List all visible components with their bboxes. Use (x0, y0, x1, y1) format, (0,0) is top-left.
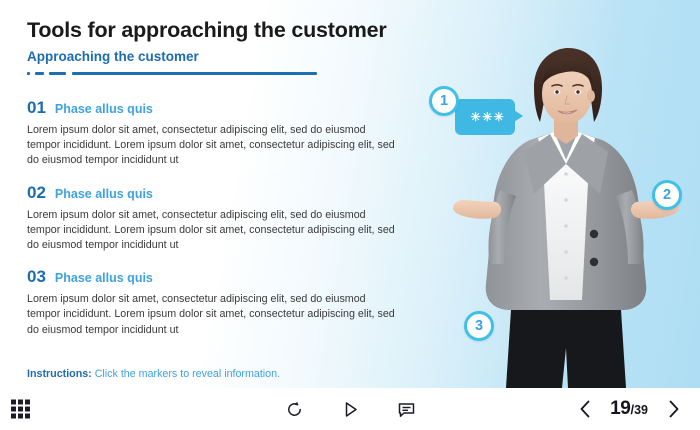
player-toolbar: 19 / 39 (0, 388, 700, 430)
page-indicator: 19 / 39 (610, 398, 648, 420)
play-icon[interactable] (339, 398, 361, 420)
marker-1-bubble: ✳✳✳ (455, 99, 523, 135)
slide-root: Tools for approaching the customer Appro… (0, 0, 700, 430)
divider-dash-1 (27, 72, 30, 75)
toolbar-right-group: 19 / 39 (574, 398, 684, 420)
phase-label: Phase allus quis (55, 102, 153, 116)
phase-body: Lorem ipsum dolor sit amet, consectetur … (27, 208, 399, 254)
slide-stage: Tools for approaching the customer Appro… (0, 0, 700, 388)
hotspot-marker-1[interactable]: 1 (429, 86, 459, 116)
page-total: 39 (634, 403, 648, 417)
bubble-text: ✳✳✳ (455, 99, 515, 135)
page-title: Tools for approaching the customer (27, 18, 387, 43)
replay-icon[interactable] (283, 398, 305, 420)
bubble-tail (514, 110, 523, 122)
divider-dash-4 (72, 72, 317, 75)
phase-header: 03 Phase allus quis (27, 267, 412, 287)
phase-label: Phase allus quis (55, 187, 153, 201)
title-divider (27, 70, 317, 76)
phase-list: 01 Phase allus quis Lorem ipsum dolor si… (27, 98, 412, 352)
phase-body: Lorem ipsum dolor sit amet, consectetur … (27, 123, 399, 169)
instructions-lead: Instructions: (27, 368, 92, 380)
phase-item: 02 Phase allus quis Lorem ipsum dolor si… (27, 183, 412, 254)
phase-number: 03 (27, 267, 46, 287)
chevron-right-icon[interactable] (662, 398, 684, 420)
phase-header: 01 Phase allus quis (27, 98, 412, 118)
hotspot-marker-2[interactable]: 2 (652, 180, 682, 210)
phase-body: Lorem ipsum dolor sit amet, consectetur … (27, 292, 399, 338)
instructions-text: Click the markers to reveal information. (95, 368, 280, 380)
instructions: Instructions: Click the markers to revea… (27, 368, 280, 380)
phase-number: 02 (27, 183, 46, 203)
page-current: 19 (610, 398, 630, 420)
phase-item: 01 Phase allus quis Lorem ipsum dolor si… (27, 98, 412, 169)
notes-icon[interactable] (395, 398, 417, 420)
chevron-left-icon[interactable] (574, 398, 596, 420)
phase-label: Phase allus quis (55, 271, 153, 285)
page-subtitle: Approaching the customer (27, 49, 199, 64)
phase-header: 02 Phase allus quis (27, 183, 412, 203)
phase-item: 03 Phase allus quis Lorem ipsum dolor si… (27, 267, 412, 338)
divider-dash-2 (35, 72, 44, 75)
divider-dash-3 (49, 72, 66, 75)
hotspot-marker-3[interactable]: 3 (464, 311, 494, 341)
phase-number: 01 (27, 98, 46, 118)
